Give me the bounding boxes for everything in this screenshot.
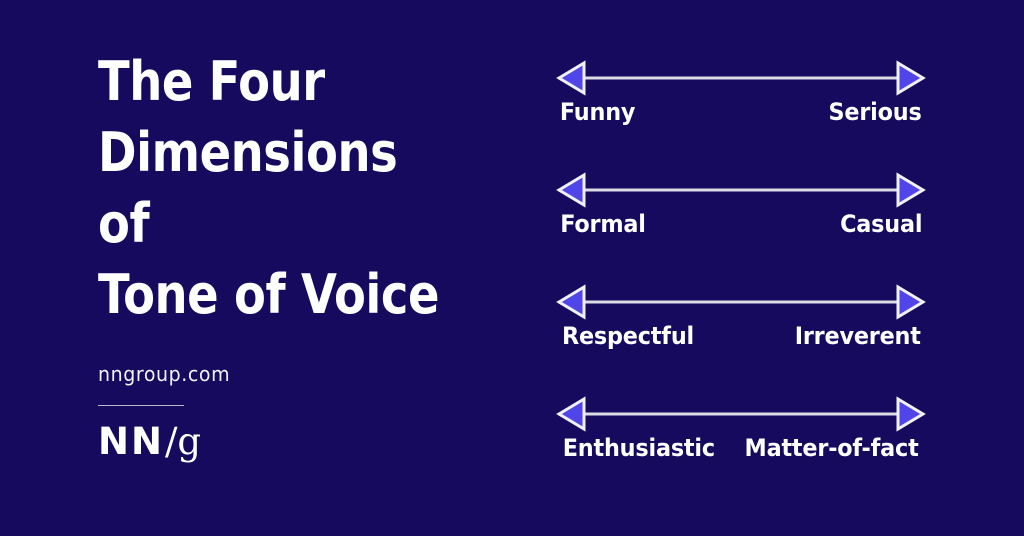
brand-url: nngroup.com xyxy=(98,362,345,386)
double-arrow-icon xyxy=(557,284,925,320)
scale-pole-left: Formal xyxy=(560,209,646,239)
logo-mark: NN xyxy=(98,423,164,460)
double-arrow-icon xyxy=(557,396,925,432)
scales-group: Funny Serious Formal Casual xyxy=(557,60,925,463)
scale-labels: Formal Casual xyxy=(557,209,925,239)
nng-logo: NN /g xyxy=(98,423,358,460)
page-title: The Four Dimensions of Tone of Voice xyxy=(98,46,459,330)
logo-suffix: /g xyxy=(165,423,201,460)
scale-row: Enthusiastic Matter-of-fact xyxy=(557,396,925,463)
scale-row: Funny Serious xyxy=(557,60,925,172)
scale-pole-right: Serious xyxy=(828,97,921,127)
brand-lockup: nngroup.com NN /g xyxy=(98,362,358,460)
scale-pole-right: Casual xyxy=(840,209,922,239)
scale-pole-left: Enthusiastic xyxy=(563,433,715,463)
headline-block: The Four Dimensions of Tone of Voice xyxy=(98,46,518,330)
divider xyxy=(98,405,184,406)
scale-row: Respectful Irreverent xyxy=(557,284,925,396)
scale-labels: Funny Serious xyxy=(557,97,925,127)
poster-canvas: The Four Dimensions of Tone of Voice nng… xyxy=(0,0,1024,536)
scale-pole-right: Irreverent xyxy=(794,321,920,351)
scale-labels: Respectful Irreverent xyxy=(557,321,925,351)
scale-pole-right: Matter-of-fact xyxy=(744,433,918,463)
double-arrow-icon xyxy=(557,60,925,96)
scale-pole-left: Respectful xyxy=(562,321,694,351)
scale-labels: Enthusiastic Matter-of-fact xyxy=(557,433,925,463)
scale-row: Formal Casual xyxy=(557,172,925,284)
double-arrow-icon xyxy=(557,172,925,208)
scale-pole-left: Funny xyxy=(560,97,635,127)
